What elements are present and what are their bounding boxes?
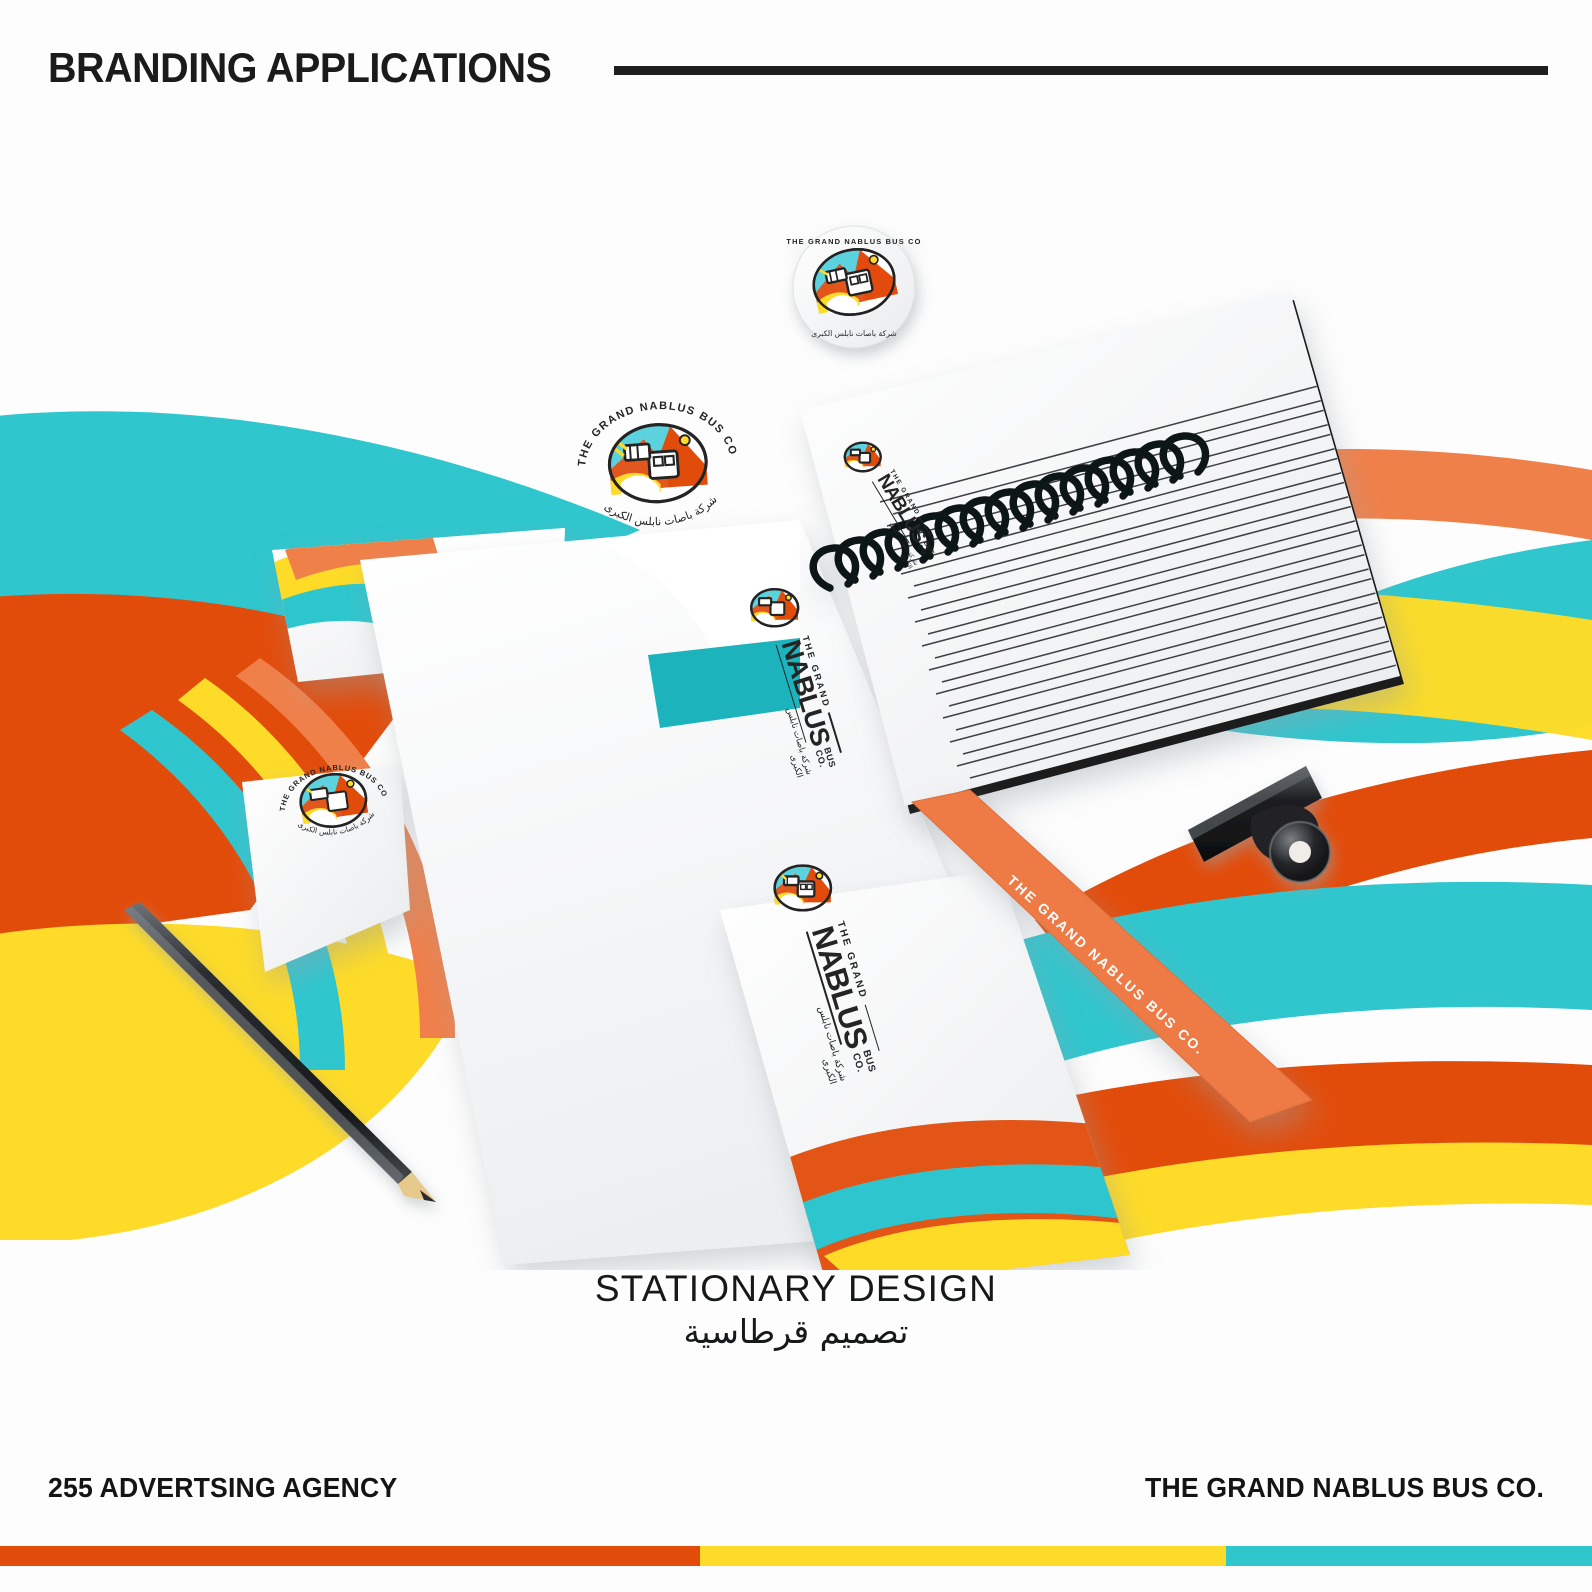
footer-agency-name: 255 ADVERTSING AGENCY: [48, 1472, 397, 1504]
caption-arabic: تصميم قرطاسية: [0, 1312, 1592, 1351]
mockup-scene: THE GRAND NABLUS BUS CO شركة باصات نابلس…: [0, 110, 1592, 1270]
letterhead-emblem: THE GRAND NABLUS BUS CO شركة باصات نابلس…: [558, 385, 758, 548]
badge-emblem-bottom-text: شركة باصات نابلس الكبرى: [811, 329, 897, 338]
header-rule-icon: [614, 66, 1549, 75]
presentation-slide: BRANDING APPLICATIONS: [0, 0, 1592, 1592]
header: BRANDING APPLICATIONS: [48, 44, 1548, 92]
caption-block: STATIONARY DESIGN تصميم قرطاسية: [0, 1268, 1592, 1351]
footer-bar-teal: [1226, 1546, 1592, 1566]
caption-english: STATIONARY DESIGN: [0, 1268, 1592, 1310]
badge-emblem-top-text: THE GRAND NABLUS BUS CO: [786, 237, 921, 246]
footer-client-name: THE GRAND NABLUS BUS CO.: [1145, 1472, 1544, 1504]
footer-color-bar: [0, 1546, 1592, 1566]
round-badge-button: THE GRAND NABLUS BUS CO شركة باصات نابلس…: [786, 226, 921, 348]
page-title: BRANDING APPLICATIONS: [48, 44, 551, 92]
footer-bar-orange: [0, 1546, 700, 1566]
business-card-emblem: THE GRAND NABLUS BUS CO شركة باصات نابلس…: [262, 742, 405, 864]
footer-bar-yellow: [700, 1546, 1225, 1566]
